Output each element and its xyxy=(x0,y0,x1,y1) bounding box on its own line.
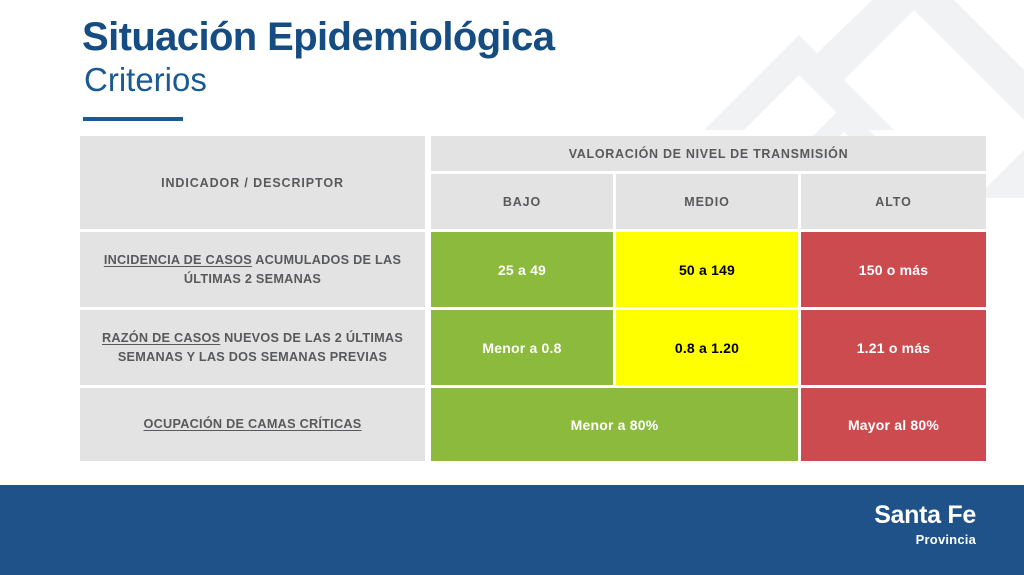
row-value-medio: 0.8 a 1.20 xyxy=(616,310,798,385)
row-value-bajo: 25 a 49 xyxy=(431,232,613,307)
slide-canvas: Situación Epidemiológica Criterios INDIC… xyxy=(0,0,1024,575)
transmission-header-stack: VALORACIÓN DE NIVEL DE TRANSMISIÓN BAJO … xyxy=(431,136,986,229)
brand-name: Santa Fe xyxy=(874,503,976,528)
column-header-transmission-group: VALORACIÓN DE NIVEL DE TRANSMISIÓN xyxy=(431,136,986,171)
row-value-bajo: Menor a 0.8 xyxy=(431,310,613,385)
value-text: 50 a 149 xyxy=(679,262,735,278)
value-text: Menor a 80% xyxy=(571,417,659,433)
value-text: Mayor al 80% xyxy=(848,417,939,433)
title-block: Situación Epidemiológica Criterios xyxy=(82,16,554,99)
row-indicator-cell: RAZÓN DE CASOS NUEVOS DE LAS 2 ÚLTIMAS S… xyxy=(80,310,425,385)
value-text: 150 o más xyxy=(859,262,929,278)
column-header-alto: ALTO xyxy=(801,174,986,229)
row-indicator-cell: OCUPACIÓN DE CAMAS CRÍTICAS xyxy=(80,388,425,461)
value-text: 0.8 a 1.20 xyxy=(675,340,739,356)
column-header-bajo: BAJO xyxy=(431,174,613,229)
value-text: 1.21 o más xyxy=(857,340,931,356)
value-text: 25 a 49 xyxy=(498,262,546,278)
table-header-row: INDICADOR / DESCRIPTOR VALORACIÓN DE NIV… xyxy=(80,136,986,229)
row-indicator-cell: INCIDENCIA DE CASOS ACUMULADOS DE LAS ÚL… xyxy=(80,232,425,307)
page-subtitle: Criterios xyxy=(84,62,554,98)
row-indicator-underlined: INCIDENCIA DE CASOS xyxy=(104,253,252,267)
brand-logo: Santa Fe Provincia xyxy=(874,503,976,546)
row-value-medio: 50 a 149 xyxy=(616,232,798,307)
column-header-medio: MEDIO xyxy=(616,174,798,229)
criteria-table: INDICADOR / DESCRIPTOR VALORACIÓN DE NIV… xyxy=(80,136,986,461)
brand-subtitle: Provincia xyxy=(874,533,976,546)
row-value-alto: 1.21 o más xyxy=(801,310,986,385)
value-text: Menor a 0.8 xyxy=(482,340,561,356)
row-indicator-text: INCIDENCIA DE CASOS ACUMULADOS DE LAS ÚL… xyxy=(90,251,415,288)
level-header-row: BAJO MEDIO ALTO xyxy=(431,174,986,229)
table-row: INCIDENCIA DE CASOS ACUMULADOS DE LAS ÚL… xyxy=(80,232,986,307)
row-value-alto: 150 o más xyxy=(801,232,986,307)
row-indicator-text: RAZÓN DE CASOS NUEVOS DE LAS 2 ÚLTIMAS S… xyxy=(90,329,415,366)
row-indicator-underlined: OCUPACIÓN DE CAMAS CRÍTICAS xyxy=(144,417,362,431)
table-row: RAZÓN DE CASOS NUEVOS DE LAS 2 ÚLTIMAS S… xyxy=(80,310,986,385)
row-value-merged-bajo-medio: Menor a 80% xyxy=(431,388,798,461)
column-header-indicator: INDICADOR / DESCRIPTOR xyxy=(80,136,425,229)
title-accent-rule xyxy=(83,117,183,121)
footer-bar: Santa Fe Provincia xyxy=(0,485,1024,575)
page-title: Situación Epidemiológica xyxy=(82,16,554,58)
table-row: OCUPACIÓN DE CAMAS CRÍTICAS Menor a 80% … xyxy=(80,388,986,461)
row-indicator-text: OCUPACIÓN DE CAMAS CRÍTICAS xyxy=(144,415,362,433)
row-indicator-underlined: RAZÓN DE CASOS xyxy=(102,331,220,345)
row-value-alto: Mayor al 80% xyxy=(801,388,986,461)
